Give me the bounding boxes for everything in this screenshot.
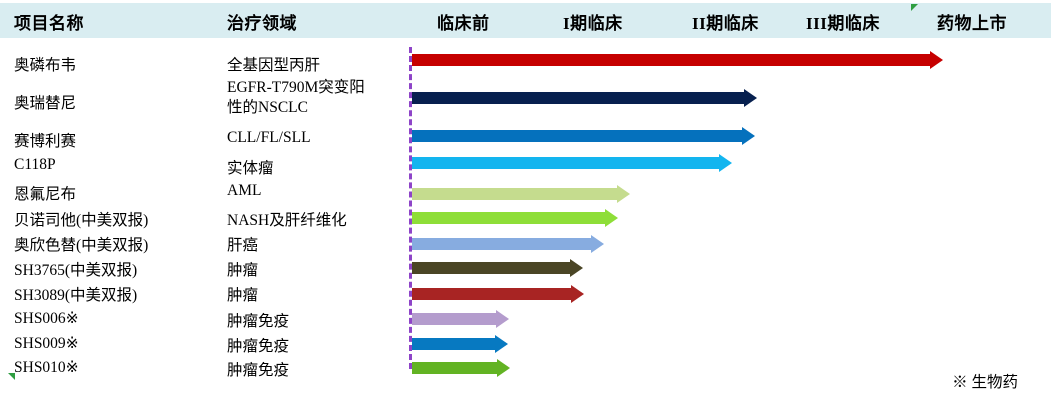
pipeline-bar-shaft: [412, 262, 570, 274]
project-name-cell: 赛博利赛: [14, 129, 76, 151]
project-name-cell: SH3089(中美双报): [14, 283, 137, 305]
pipeline-bar: [412, 238, 604, 250]
pipeline-bar-arrowhead-icon: [497, 359, 510, 377]
stage-header-marketed: 药物上市: [937, 9, 1007, 34]
pipeline-bar-arrowhead-icon: [570, 259, 583, 277]
stage-header-phase2: II期临床: [692, 9, 759, 34]
therapy-area-line: 全基因型丙肝: [227, 53, 320, 75]
therapy-area-cell: 肿瘤免疫: [227, 309, 289, 331]
green-corner-marker-top-icon: [911, 4, 918, 11]
therapy-area-line: 肿瘤免疫: [227, 309, 289, 331]
pipeline-bar-shaft: [412, 313, 496, 325]
project-name-cell: 奥瑞替尼: [14, 91, 76, 113]
column-header-therapy-area: 治疗领域: [227, 9, 297, 34]
pipeline-chart: 项目名称 治疗领域 临床前 I期临床 II期临床 III期临床 药物上市 奥磷布…: [0, 0, 1051, 404]
project-name-cell: 恩氟尼布: [14, 182, 76, 204]
therapy-area-cell: 肝癌: [227, 233, 258, 255]
therapy-area-line: 肿瘤: [227, 258, 258, 280]
project-name-cell: C118P: [14, 156, 56, 174]
pipeline-bar-shaft: [412, 54, 930, 66]
pipeline-bar-shaft: [412, 212, 605, 224]
therapy-area-cell: 肿瘤免疫: [227, 334, 289, 356]
therapy-area-cell: EGFR-T790M突变阳性的NSCLC: [227, 78, 422, 118]
pipeline-bar-arrowhead-icon: [591, 235, 604, 253]
pipeline-bar: [412, 313, 509, 325]
pipeline-bar-arrowhead-icon: [719, 154, 732, 172]
stage-header-phase3: III期临床: [806, 9, 880, 34]
pipeline-bar-shaft: [412, 288, 571, 300]
pipeline-bar: [412, 54, 943, 66]
project-name-cell: 奥欣色替(中美双报): [14, 233, 148, 255]
pipeline-bar: [412, 362, 510, 374]
table-header-band: [0, 3, 1051, 38]
pipeline-bar-shaft: [412, 362, 497, 374]
legend-biologic-note: ※ 生物药: [952, 370, 1018, 392]
pipeline-bar: [412, 212, 618, 224]
pipeline-bar: [412, 130, 755, 142]
pipeline-bar-arrowhead-icon: [744, 89, 757, 107]
pipeline-bar-arrowhead-icon: [495, 335, 508, 353]
therapy-area-cell: 实体瘤: [227, 156, 274, 178]
pipeline-bar: [412, 157, 732, 169]
project-name-cell: 奥磷布韦: [14, 53, 76, 75]
pipeline-bar: [412, 188, 630, 200]
therapy-area-line: 肝癌: [227, 233, 258, 255]
pipeline-bar-arrowhead-icon: [571, 285, 584, 303]
project-name-cell: SHS010※: [14, 358, 79, 377]
pipeline-bar-shaft: [412, 188, 617, 200]
pipeline-bar: [412, 288, 584, 300]
therapy-area-cell: NASH及肝纤维化: [227, 208, 347, 230]
pipeline-bar-shaft: [412, 92, 744, 104]
therapy-area-cell: CLL/FL/SLL: [227, 129, 311, 147]
column-header-project-name: 项目名称: [14, 9, 84, 34]
therapy-area-cell: 肿瘤免疫: [227, 358, 289, 380]
therapy-area-cell: AML: [227, 182, 261, 200]
therapy-area-line: NASH及肝纤维化: [227, 208, 347, 230]
pipeline-bar-shaft: [412, 338, 495, 350]
pipeline-bar-arrowhead-icon: [605, 209, 618, 227]
therapy-area-line: 肿瘤: [227, 283, 258, 305]
pipeline-bar-arrowhead-icon: [617, 185, 630, 203]
project-name-cell: 贝诺司他(中美双报): [14, 208, 148, 230]
therapy-area-line: 性的NSCLC: [227, 98, 422, 118]
pipeline-bar: [412, 338, 508, 350]
pipeline-bar-shaft: [412, 130, 742, 142]
therapy-area-line: 肿瘤免疫: [227, 334, 289, 356]
project-name-cell: SH3765(中美双报): [14, 258, 137, 280]
therapy-area-line: AML: [227, 182, 261, 200]
therapy-area-line: EGFR-T790M突变阳: [227, 78, 422, 98]
therapy-area-cell: 肿瘤: [227, 283, 258, 305]
pipeline-bar-arrowhead-icon: [930, 51, 943, 69]
stage-header-phase1: I期临床: [563, 9, 623, 34]
pipeline-bar-shaft: [412, 157, 719, 169]
therapy-area-cell: 肿瘤: [227, 258, 258, 280]
therapy-area-line: 实体瘤: [227, 156, 274, 178]
pipeline-bar: [412, 262, 583, 274]
pipeline-bar-shaft: [412, 238, 591, 250]
therapy-area-line: 肿瘤免疫: [227, 358, 289, 380]
pipeline-bar-arrowhead-icon: [496, 310, 509, 328]
therapy-area-cell: 全基因型丙肝: [227, 53, 320, 75]
pipeline-bar-arrowhead-icon: [742, 127, 755, 145]
pipeline-bar: [412, 92, 757, 104]
project-name-cell: SHS009※: [14, 334, 79, 353]
therapy-area-line: CLL/FL/SLL: [227, 129, 311, 147]
project-name-cell: SHS006※: [14, 309, 79, 328]
stage-header-preclinical: 临床前: [437, 9, 490, 34]
